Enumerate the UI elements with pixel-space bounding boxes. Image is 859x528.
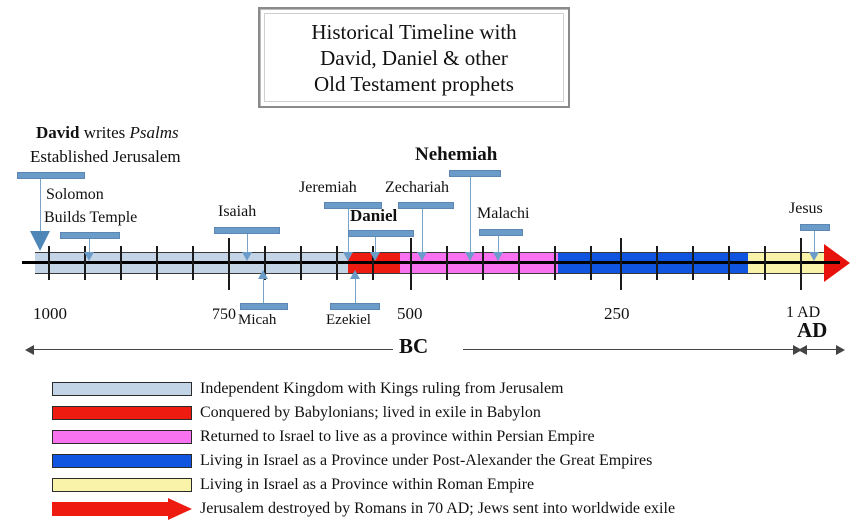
marker-stem-micah	[263, 279, 264, 305]
marker-arrow-daniel	[370, 252, 380, 261]
marker-bar-jesus	[800, 224, 830, 231]
marker-label-solomon-2: Builds Temple	[44, 209, 137, 227]
axis-tick-major	[228, 238, 230, 290]
legend-swatch-persian-province	[52, 430, 192, 444]
marker-label-malachi: Malachi	[477, 205, 529, 223]
david-headline-line-1: David writes Psalms	[36, 122, 179, 143]
axis-tick-major	[800, 238, 802, 290]
legend-row: Living in Israel as a Province under Pos…	[52, 450, 675, 472]
legend-row: Independent Kingdom with Kings ruling fr…	[52, 378, 675, 400]
legend-swatch-jerusalem-destroyed	[52, 502, 192, 516]
legend-text-post-alexander: Living in Israel as a Province under Pos…	[200, 452, 652, 470]
legend-row: Returned to Israel to live as a province…	[52, 426, 675, 448]
legend-text-persian-province: Returned to Israel to live as a province…	[200, 428, 595, 446]
ad-era-line-2	[806, 349, 838, 350]
ad-arrow-left-icon	[798, 345, 807, 355]
marker-stem-david	[40, 179, 41, 233]
axis-tick	[764, 246, 766, 280]
marker-arrow-malachi	[493, 252, 503, 261]
marker-bar-isaiah	[214, 227, 280, 234]
axis-tick	[156, 246, 158, 280]
marker-bar-zechariah	[398, 202, 454, 209]
axis-tick	[656, 246, 658, 280]
marker-arrow-solomon	[84, 252, 94, 261]
bc-era-line	[33, 349, 393, 350]
axis-tick	[692, 246, 694, 280]
legend-swatch-post-alexander	[52, 454, 192, 468]
marker-bar-malachi	[479, 229, 523, 236]
legend: Independent Kingdom with Kings ruling fr…	[52, 378, 675, 522]
era-label-ad: AD	[797, 318, 827, 343]
marker-arrow-nehemiah	[465, 252, 475, 261]
ad-arrow-right-icon	[836, 345, 845, 355]
marker-arrow-jeremiah	[343, 252, 353, 261]
ad-era-line	[463, 349, 795, 350]
axis-label-750: 750	[212, 306, 236, 324]
david-writes-text: writes	[79, 123, 129, 142]
axis-label-250: 250	[604, 304, 630, 324]
axis-tick	[336, 246, 338, 280]
marker-label-nehemiah: Nehemiah	[415, 146, 497, 164]
axis-tick	[554, 246, 556, 280]
marker-label-zechariah: Zechariah	[385, 179, 449, 197]
title-line-1: Historical Timeline with	[311, 19, 516, 45]
marker-bar-david	[17, 172, 85, 179]
marker-bar-micah	[240, 303, 288, 310]
axis-tick-major	[620, 238, 622, 290]
axis-tick	[48, 246, 50, 280]
marker-label-jeremiah: Jeremiah	[299, 179, 357, 197]
legend-text-babylonian-exile: Conquered by Babylonians; lived in exile…	[200, 404, 541, 422]
david-headline-line-2: Established Jerusalem	[30, 146, 181, 167]
legend-swatch-babylonian-exile	[52, 406, 192, 420]
marker-stem-zechariah	[422, 209, 423, 256]
axis-tick	[590, 246, 592, 280]
axis-tick	[446, 246, 448, 280]
marker-stem-ezekiel	[355, 279, 356, 305]
axis-tick-major	[410, 238, 412, 290]
marker-arrow-zechariah	[417, 252, 427, 261]
legend-row: Conquered by Babylonians; lived in exile…	[52, 402, 675, 424]
title-line-3: Old Testament prophets	[314, 71, 514, 97]
axis-tick	[728, 246, 730, 280]
bc-arrow-left-icon	[25, 345, 34, 355]
marker-label-isaiah: Isaiah	[218, 203, 256, 221]
legend-row: Jerusalem destroyed by Romans in 70 AD; …	[52, 498, 675, 520]
marker-arrow-david	[30, 231, 50, 251]
axis-tick	[192, 246, 194, 280]
axis-tick	[120, 246, 122, 280]
era-label-bc: BC	[399, 334, 428, 359]
marker-label-daniel: Daniel	[350, 207, 397, 225]
marker-bar-daniel	[348, 230, 414, 237]
marker-arrow-isaiah	[242, 252, 252, 261]
axis-tick	[482, 246, 484, 280]
marker-label-micah: Micah	[238, 311, 276, 329]
marker-label-jesus: Jesus	[789, 200, 823, 218]
marker-arrow-micah	[258, 270, 268, 279]
marker-arrow-jesus	[809, 252, 819, 261]
david-name: David	[36, 123, 79, 142]
legend-row: Living in Israel as a Province within Ro…	[52, 474, 675, 496]
marker-label-solomon: Solomon	[46, 186, 104, 204]
marker-bar-ezekiel	[330, 303, 380, 310]
marker-arrow-ezekiel	[350, 270, 360, 279]
marker-stem-nehemiah	[470, 177, 471, 256]
timeline-axis	[22, 261, 840, 264]
axis-label-500: 500	[397, 304, 423, 324]
legend-text-jerusalem-destroyed: Jerusalem destroyed by Romans in 70 AD; …	[200, 500, 675, 518]
marker-bar-solomon	[60, 232, 120, 239]
marker-label-ezekiel: Ezekiel	[326, 311, 371, 329]
legend-text-independent-kingdom: Independent Kingdom with Kings ruling fr…	[200, 380, 564, 398]
title-line-2: David, Daniel & other	[320, 45, 508, 71]
psalms-title: Psalms	[130, 123, 179, 142]
title-box: Historical Timeline with David, Daniel &…	[258, 7, 570, 108]
axis-tick	[300, 246, 302, 280]
legend-text-roman-province: Living in Israel as a Province within Ro…	[200, 476, 534, 494]
axis-tick	[518, 246, 520, 280]
axis-label-1000: 1000	[33, 304, 67, 324]
marker-bar-nehemiah	[449, 170, 501, 177]
legend-swatch-independent-kingdom	[52, 382, 192, 396]
legend-swatch-roman-province	[52, 478, 192, 492]
